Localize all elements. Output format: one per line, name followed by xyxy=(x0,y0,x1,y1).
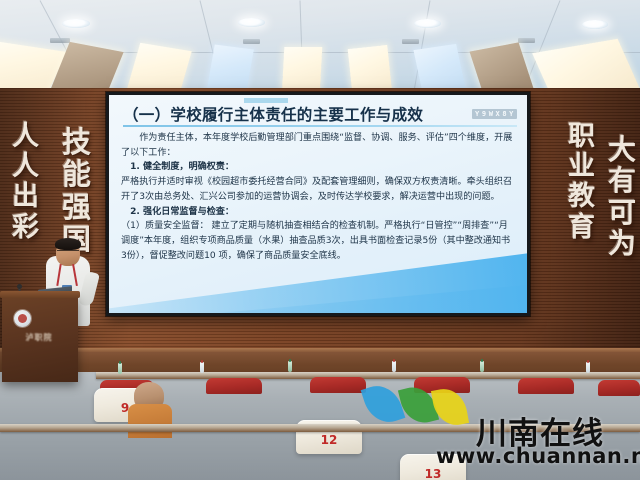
wm-char: Y xyxy=(475,110,480,118)
slogan-char: 可 xyxy=(608,197,636,228)
ceiling xyxy=(0,0,640,96)
podium-label: 泸职院 xyxy=(9,332,69,344)
wall-slogan-right-inner: 职业教育 xyxy=(568,122,595,243)
slogan-char: 职 xyxy=(568,122,595,152)
desk-rail xyxy=(0,424,640,432)
lecture-hall-photo: 人人出彩 技能强国 职业教育 大有可为 （一）学校履行主体责任的主要工作与成效 … xyxy=(0,0,640,480)
water-bottle xyxy=(586,362,590,373)
slide-watermark-code: Y 9 W X 8 Y xyxy=(472,109,517,119)
wm-char: X xyxy=(496,110,501,118)
slogan-char: 有 xyxy=(608,165,636,196)
slogan-char: 业 xyxy=(568,152,595,182)
ceiling-vent xyxy=(402,39,419,44)
projection-screen-frame: （一）学校履行主体责任的主要工作与成效 Y 9 W X 8 Y 作为责任主体，本… xyxy=(106,92,530,316)
water-bottle xyxy=(288,361,292,372)
slogan-char: 人 xyxy=(12,122,39,152)
school-emblem-icon xyxy=(14,310,31,327)
ceiling-vent xyxy=(50,38,70,43)
slogan-char: 为 xyxy=(608,228,636,259)
water-bottle xyxy=(200,362,204,373)
seat-back xyxy=(414,377,470,393)
ceiling-vent xyxy=(518,38,535,43)
wm-char: 9 xyxy=(482,110,487,118)
slogan-char: 育 xyxy=(568,213,595,243)
slide-paragraph: （1）质量安全监督： 建立了定期与随机抽查相结合的检查机制。严格执行“日管控”“… xyxy=(121,219,513,263)
slide-title-row: （一）学校履行主体责任的主要工作与成效 Y 9 W X 8 Y xyxy=(123,103,517,125)
slogan-char: 职业教育 xyxy=(568,122,595,243)
ceiling-downlight xyxy=(414,19,441,28)
audience-seat: 13 xyxy=(400,454,466,480)
wm-char: 8 xyxy=(502,110,507,118)
slogan-char: 人人出彩 xyxy=(12,122,39,243)
slide-title-divider xyxy=(123,125,517,127)
microphone-icon xyxy=(17,284,22,289)
podium-top-surface xyxy=(0,291,80,298)
slogan-char: 出 xyxy=(12,182,39,212)
seat-back xyxy=(598,380,640,396)
slogan-char: 技 xyxy=(62,126,91,158)
slogan-char: 能 xyxy=(62,158,91,190)
slogan-char: 技能强国 xyxy=(62,126,91,256)
wall-slogan-right-outer: 大有可为 xyxy=(608,134,636,259)
slogan-char: 大有可为 xyxy=(608,134,636,259)
wm-char: W xyxy=(489,110,494,118)
audience-person-body xyxy=(128,404,172,438)
presentation-slide: （一）学校履行主体责任的主要工作与成效 Y 9 W X 8 Y 作为责任主体，本… xyxy=(109,95,527,313)
slogan-char: 强 xyxy=(62,191,91,223)
ceiling-downlight xyxy=(238,18,265,27)
slogan-char: 彩 xyxy=(12,213,39,243)
wm-char: Y xyxy=(509,110,514,118)
podium: 泸职院 xyxy=(2,296,78,382)
seat-back xyxy=(518,378,574,394)
water-bottle xyxy=(118,363,122,374)
speaker-hair xyxy=(55,238,81,250)
ceiling-vent xyxy=(243,39,260,44)
water-bottle xyxy=(480,361,484,372)
ceiling-downlight xyxy=(582,20,608,29)
ceiling-downlight xyxy=(62,19,90,28)
glasses-icon xyxy=(57,250,79,255)
stage-edge xyxy=(0,348,640,352)
wall-slogan-left-outer: 人人出彩 xyxy=(12,122,39,243)
slide-heading: 1. 健全制度，明确权责： xyxy=(121,160,513,175)
wall-slogan-left-inner: 技能强国 xyxy=(62,126,91,256)
slide-paragraph: 作为责任主体，本年度学校后勤管理部门重点围绕“监督、协调、服务、评估”四个维度，… xyxy=(121,131,513,160)
slide-title: （一）学校履行主体责任的主要工作与成效 xyxy=(123,103,423,125)
slide-heading: 2. 强化日常监督与检查： xyxy=(121,205,513,220)
seat-back xyxy=(206,378,262,394)
seat-number: 12 xyxy=(296,433,362,447)
water-bottle xyxy=(392,361,396,372)
slogan-char: 教 xyxy=(568,182,595,212)
seat-number: 13 xyxy=(400,467,466,480)
slide-paragraph: 严格执行并适时审视《校园超市委托经营合同》及配套管理细则，确保双方权责清晰。牵头… xyxy=(121,175,513,204)
slogan-char: 人 xyxy=(12,152,39,182)
seat-back xyxy=(310,377,366,393)
slide-body: 作为责任主体，本年度学校后勤管理部门重点围绕“监督、协调、服务、评估”四个维度，… xyxy=(121,131,513,263)
slogan-char: 大 xyxy=(608,134,636,165)
